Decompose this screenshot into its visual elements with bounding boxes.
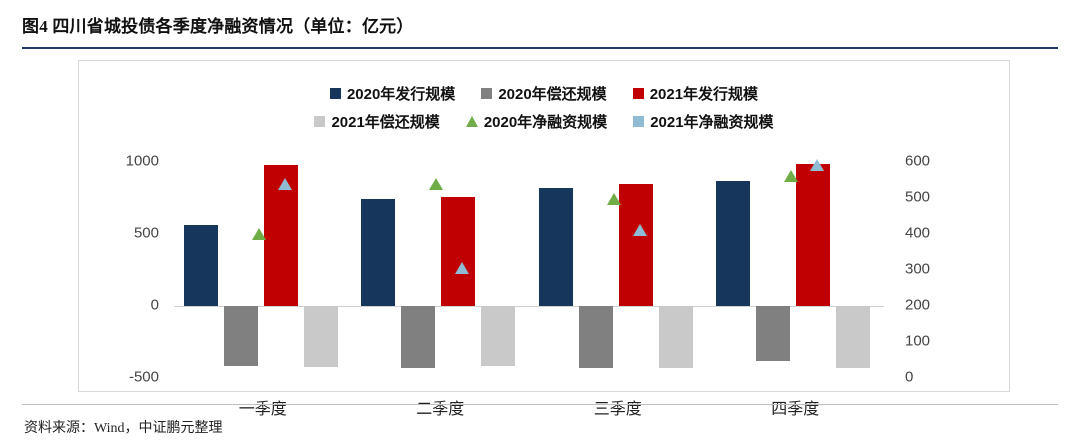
chart-container: 2020年发行规模 2020年偿还规模 2021年发行规模 2021年偿还规模 — [78, 60, 1010, 392]
x-tick-label: 二季度 — [416, 395, 464, 419]
legend-row-1: 2020年发行规模 2020年偿还规模 2021年发行规模 — [79, 83, 1009, 104]
bar-1-0 — [224, 306, 258, 366]
source-note: 资料来源：Wind，中证鹏元整理 — [24, 417, 223, 437]
marker-1-3 — [810, 159, 824, 171]
marker-0-0 — [252, 228, 266, 240]
y-axis-right: 600 500 400 300 200 100 0 — [891, 153, 991, 383]
legend-item-1: 2020年偿还规模 — [481, 83, 606, 104]
bar-3-0 — [304, 306, 338, 367]
y-tick-right: 300 — [905, 261, 930, 278]
marker-0-3 — [784, 170, 798, 182]
x-tick-label: 四季度 — [771, 395, 819, 419]
footer-divider — [22, 404, 1058, 405]
legend-row-2: 2021年偿还规模 2020年净融资规模 2021年净融资规模 — [79, 111, 1009, 132]
legend-item-5: 2021年净融资规模 — [633, 111, 773, 132]
bar-2-3 — [796, 164, 830, 307]
legend-label: 2021年发行规模 — [650, 83, 758, 104]
page-title: 图4 四川省城投债各季度净融资情况（单位：亿元） — [22, 12, 414, 37]
figure-page: 图4 四川省城投债各季度净融资情况（单位：亿元） 2020年发行规模 2020年… — [0, 0, 1080, 444]
legend-item-3: 2021年偿还规模 — [314, 111, 439, 132]
x-axis-labels: 一季度二季度三季度四季度 — [174, 391, 884, 421]
marker-1-1 — [455, 262, 469, 274]
legend-label: 2020年偿还规模 — [498, 83, 606, 104]
bar-2-1 — [441, 197, 475, 307]
bar-0-1 — [361, 199, 395, 306]
legend-label: 2020年净融资规模 — [484, 111, 607, 132]
chart-legend: 2020年发行规模 2020年偿还规模 2021年发行规模 2021年偿还规模 — [79, 61, 1009, 132]
legend-swatch-icon — [330, 88, 341, 99]
legend-swatch-icon — [481, 88, 492, 99]
bar-1-2 — [579, 306, 613, 367]
y-tick-left: 500 — [134, 225, 159, 242]
x-tick-label: 一季度 — [239, 395, 287, 419]
y-tick-right: 400 — [905, 225, 930, 242]
legend-swatch-icon — [633, 116, 644, 127]
y-tick-right: 200 — [905, 297, 930, 314]
plot-area — [174, 153, 884, 383]
legend-swatch-icon — [633, 88, 644, 99]
y-tick-left: 0 — [151, 297, 159, 314]
bar-0-0 — [184, 225, 218, 306]
y-axis-left: 1000 500 0 -500 — [79, 153, 167, 383]
legend-swatch-icon — [314, 116, 325, 127]
marker-0-2 — [607, 193, 621, 205]
title-divider — [22, 47, 1058, 49]
legend-label: 2021年净融资规模 — [650, 111, 773, 132]
x-tick-label: 三季度 — [594, 395, 642, 419]
marker-1-0 — [278, 178, 292, 190]
y-tick-right: 600 — [905, 153, 930, 170]
bar-1-1 — [401, 306, 435, 367]
marker-0-1 — [429, 178, 443, 190]
bar-2-2 — [619, 184, 653, 307]
legend-item-4: 2020年净融资规模 — [466, 111, 607, 132]
bar-3-3 — [836, 306, 870, 367]
marker-1-2 — [633, 224, 647, 236]
legend-item-2: 2021年发行规模 — [633, 83, 758, 104]
legend-label: 2021年偿还规模 — [331, 111, 439, 132]
bar-0-2 — [539, 188, 573, 306]
y-tick-left: 1000 — [126, 153, 159, 170]
legend-item-0: 2020年发行规模 — [330, 83, 455, 104]
bar-3-2 — [659, 306, 693, 367]
y-tick-right: 500 — [905, 189, 930, 206]
bar-1-3 — [756, 306, 790, 360]
bar-0-3 — [716, 181, 750, 307]
legend-label: 2020年发行规模 — [347, 83, 455, 104]
y-tick-right: 100 — [905, 333, 930, 350]
bar-3-1 — [481, 306, 515, 366]
y-tick-left: -500 — [129, 369, 159, 386]
y-tick-right: 0 — [905, 369, 913, 386]
legend-triangle-icon — [466, 116, 478, 127]
